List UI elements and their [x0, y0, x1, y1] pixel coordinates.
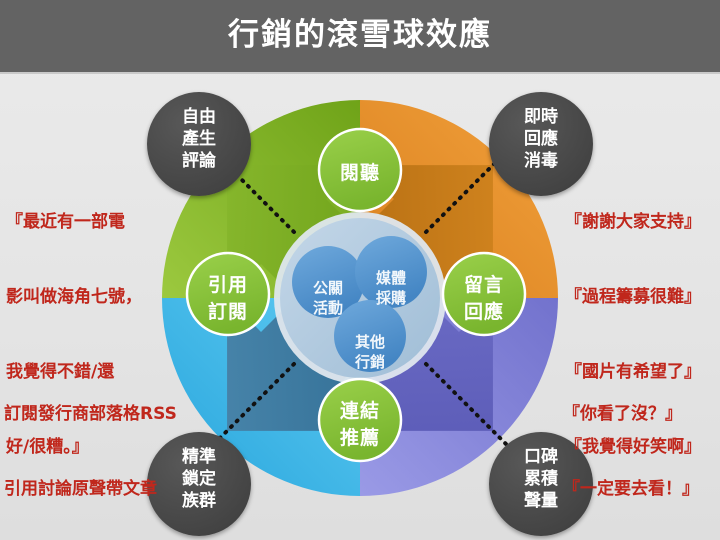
hub-inner-media — [355, 236, 427, 308]
stage-circle-listen[interactable] — [319, 129, 401, 211]
stage-circle-respond[interactable] — [443, 253, 525, 335]
page-title: 行銷的滾雪球效應 — [0, 14, 720, 56]
annotation-bottom-left: 訂閱發行商部落格RSS 引用討論原聲帶文章 引用並討論場景特搜文 — [4, 352, 177, 540]
outcome-node-free-generate-review[interactable] — [147, 92, 251, 196]
slide-canvas: 行銷的滾雪球效應 — [0, 0, 720, 540]
title-bar: 行銷的滾雪球效應 — [0, 0, 720, 74]
annotation-bottom-right: 『你看了沒？』 『一定要去看！』 『帶爸媽去看了』 『我看了好幾遍』 — [563, 352, 699, 540]
stage-circle-link[interactable] — [319, 379, 401, 461]
hub-inner-other — [334, 300, 406, 372]
stage-circle-quote[interactable] — [187, 253, 269, 335]
diagram-hub — [274, 212, 446, 384]
